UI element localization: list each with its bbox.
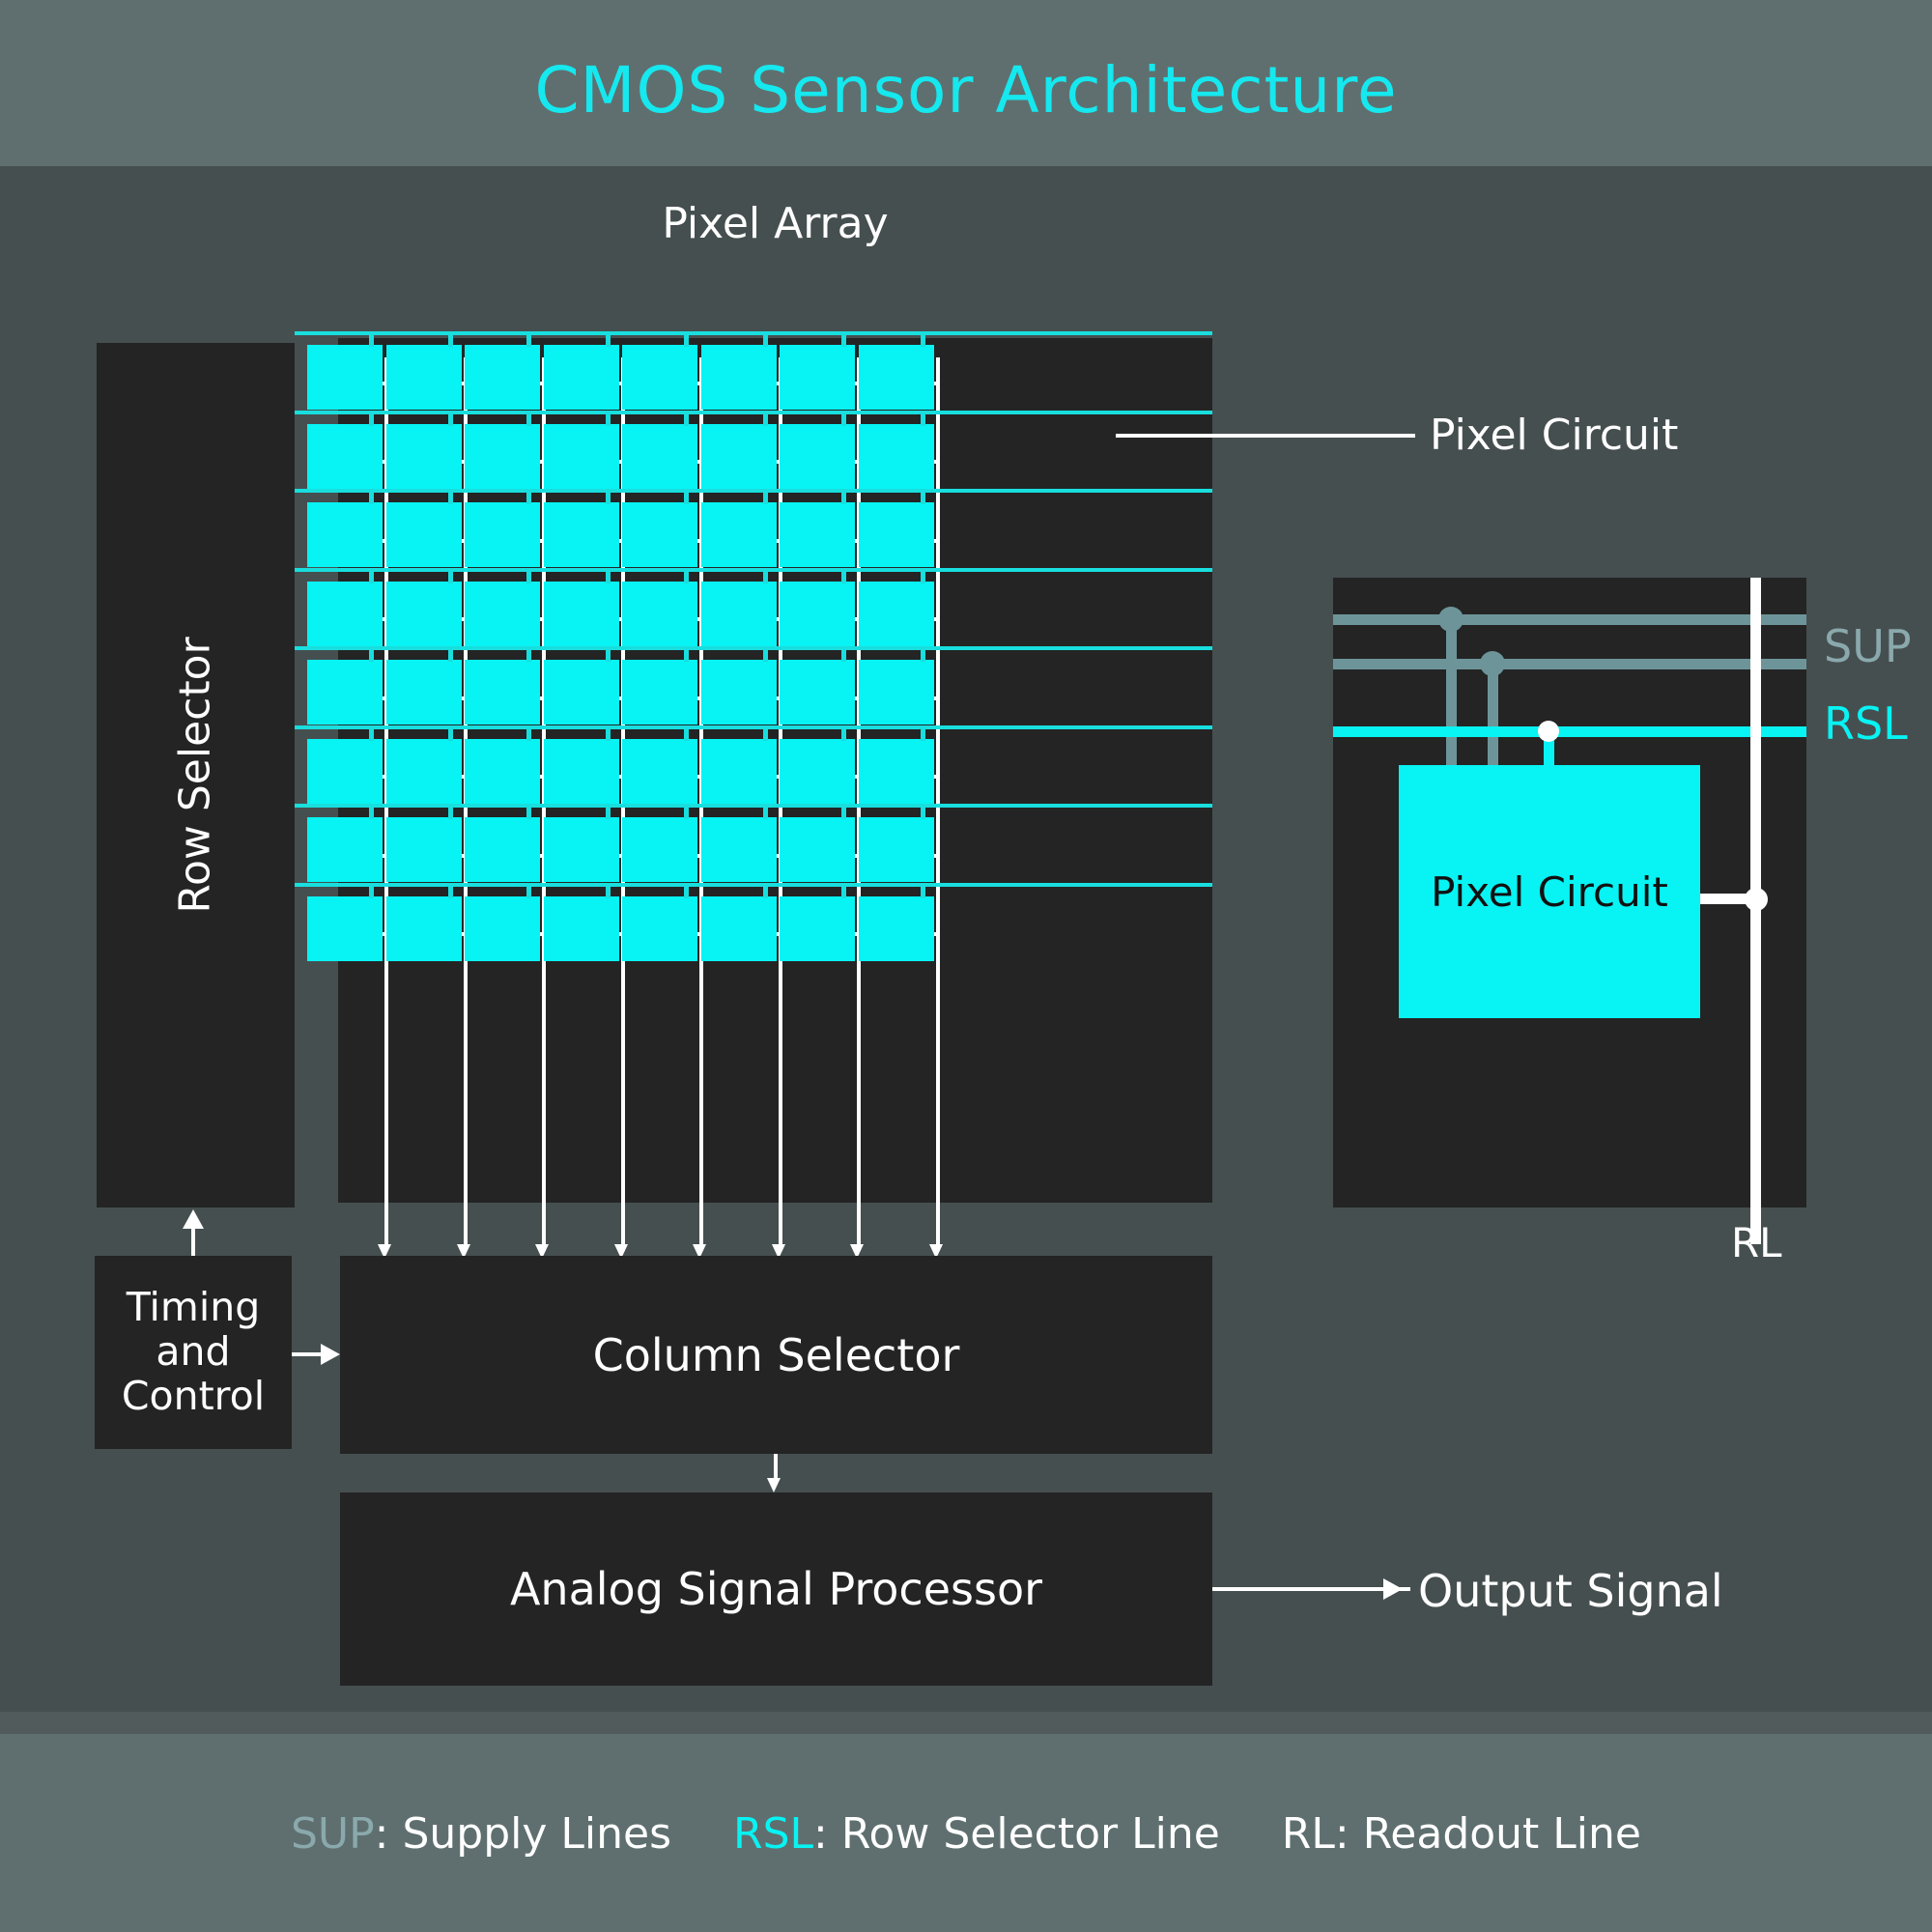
rsl-pixel-stub bbox=[448, 335, 453, 347]
detail-pixel-circuit-block[interactable]: Pixel Circuit bbox=[1399, 765, 1700, 1018]
rsl-pixel-stub bbox=[448, 729, 453, 741]
rsl-row-line bbox=[295, 725, 1212, 729]
sup-junction-dot-2 bbox=[1480, 651, 1505, 676]
legend-description: Row Selector Line bbox=[841, 1809, 1220, 1859]
pixel-cell[interactable] bbox=[622, 660, 697, 724]
pixel-cell[interactable] bbox=[544, 502, 619, 567]
rsl-pixel-stub bbox=[448, 808, 453, 819]
rsl-pixel-stub bbox=[921, 887, 925, 898]
pixel-cell[interactable] bbox=[780, 345, 855, 410]
rsl-pixel-stub bbox=[526, 572, 531, 583]
rsl-pixel-stub bbox=[684, 335, 689, 347]
pixel-cell[interactable] bbox=[386, 739, 462, 804]
legend-item: SUP: Supply Lines bbox=[291, 1809, 671, 1859]
rl-pixel-stub bbox=[934, 932, 940, 936]
pixel-cell[interactable] bbox=[544, 739, 619, 804]
pixel-cell[interactable] bbox=[465, 424, 540, 489]
column-selector-label: Column Selector bbox=[340, 1256, 1212, 1454]
rsl-pixel-stub bbox=[684, 650, 689, 662]
legend-description: Readout Line bbox=[1363, 1809, 1641, 1859]
rsl-row-line bbox=[295, 646, 1212, 650]
rsl-label: RSL bbox=[1824, 697, 1908, 750]
rsl-pixel-stub bbox=[526, 335, 531, 347]
rsl-junction-dot bbox=[1538, 721, 1559, 742]
asp-to-output-line bbox=[1212, 1587, 1410, 1591]
rsl-pixel-stub bbox=[841, 335, 846, 347]
pixel-cell[interactable] bbox=[780, 502, 855, 567]
pixel-cell[interactable] bbox=[386, 660, 462, 724]
rsl-row-line bbox=[295, 331, 1212, 335]
pixel-cell[interactable] bbox=[465, 817, 540, 882]
rsl-pixel-stub bbox=[921, 414, 925, 426]
rl-pixel-stub bbox=[934, 382, 940, 385]
timing-to-colselector-arrowhead bbox=[321, 1344, 340, 1365]
rl-line-detail bbox=[1750, 578, 1761, 1244]
page-title: CMOS Sensor Architecture bbox=[0, 53, 1932, 128]
pixel-cell[interactable] bbox=[307, 739, 383, 804]
pixel-cell[interactable] bbox=[859, 424, 934, 489]
rsl-pixel-stub bbox=[369, 493, 374, 504]
rsl-pixel-stub bbox=[841, 729, 846, 741]
pixel-cell[interactable] bbox=[859, 739, 934, 804]
pixel-cell[interactable] bbox=[307, 502, 383, 567]
pixel-cell[interactable] bbox=[544, 582, 619, 646]
pixel-cell[interactable] bbox=[859, 502, 934, 567]
pixel-cell[interactable] bbox=[622, 502, 697, 567]
pixel-cell[interactable] bbox=[780, 660, 855, 724]
pixel-circuit-callout-line bbox=[1116, 434, 1415, 438]
pixel-cell[interactable] bbox=[465, 660, 540, 724]
rsl-pixel-stub bbox=[921, 650, 925, 662]
rsl-pixel-stub bbox=[369, 808, 374, 819]
pixel-cell[interactable] bbox=[307, 896, 383, 961]
rsl-pixel-stub bbox=[684, 572, 689, 583]
rsl-pixel-stub bbox=[763, 808, 768, 819]
pixel-cell[interactable] bbox=[307, 582, 383, 646]
pixel-cell[interactable] bbox=[701, 502, 777, 567]
rsl-row-line bbox=[295, 883, 1212, 887]
legend-key: RSL bbox=[733, 1809, 813, 1859]
rsl-pixel-stub bbox=[841, 887, 846, 898]
rsl-pixel-stub bbox=[684, 808, 689, 819]
rsl-pixel-stub bbox=[448, 493, 453, 504]
rsl-pixel-stub bbox=[841, 572, 846, 583]
pixel-circuit-callout-label: Pixel Circuit bbox=[1430, 411, 1678, 460]
timing-control-line-2: and bbox=[156, 1330, 230, 1375]
pixel-cell[interactable] bbox=[622, 424, 697, 489]
pixel-array-title: Pixel Array bbox=[338, 199, 1212, 248]
pixel-cell[interactable] bbox=[465, 582, 540, 646]
output-signal-label: Output Signal bbox=[1418, 1565, 1723, 1617]
pixel-cell[interactable] bbox=[544, 345, 619, 410]
rsl-pixel-stub bbox=[606, 729, 611, 741]
pixel-cell[interactable] bbox=[386, 345, 462, 410]
legend-item: RSL: Row Selector Line bbox=[733, 1809, 1220, 1859]
pixel-cell[interactable] bbox=[465, 345, 540, 410]
sup-line-2 bbox=[1333, 659, 1806, 669]
pixel-cell[interactable] bbox=[701, 345, 777, 410]
pixel-cell[interactable] bbox=[386, 582, 462, 646]
rsl-pixel-stub bbox=[841, 650, 846, 662]
rl-pixel-stub bbox=[934, 854, 940, 858]
asp-to-output-arrowhead bbox=[1383, 1578, 1403, 1600]
pixel-cell[interactable] bbox=[701, 660, 777, 724]
rsl-pixel-stub bbox=[841, 493, 846, 504]
legend-item: RL: Readout Line bbox=[1282, 1809, 1641, 1859]
rsl-pixel-stub bbox=[526, 887, 531, 898]
rsl-pixel-stub bbox=[921, 335, 925, 347]
pixel-cell[interactable] bbox=[701, 896, 777, 961]
pixel-cell[interactable] bbox=[859, 345, 934, 410]
timing-control-line-3: Control bbox=[122, 1375, 265, 1419]
pixel-cell[interactable] bbox=[465, 739, 540, 804]
pixel-cell[interactable] bbox=[544, 896, 619, 961]
pixel-cell[interactable] bbox=[780, 424, 855, 489]
pixel-cell[interactable] bbox=[386, 424, 462, 489]
pixel-cell[interactable] bbox=[701, 817, 777, 882]
pixel-cell[interactable] bbox=[307, 660, 383, 724]
rsl-pixel-stub bbox=[841, 808, 846, 819]
rsl-pixel-stub bbox=[606, 808, 611, 819]
rsl-pixel-stub bbox=[448, 572, 453, 583]
rsl-pixel-stub bbox=[763, 493, 768, 504]
pixel-cell[interactable] bbox=[859, 582, 934, 646]
pixel-cell[interactable] bbox=[465, 502, 540, 567]
colselector-to-asp-line bbox=[774, 1454, 778, 1478]
pixel-cell[interactable] bbox=[859, 817, 934, 882]
rsl-row-line bbox=[295, 804, 1212, 808]
rsl-pixel-stub bbox=[606, 650, 611, 662]
pixel-cell[interactable] bbox=[780, 739, 855, 804]
pixel-cell[interactable] bbox=[307, 424, 383, 489]
analog-signal-processor-label: Analog Signal Processor bbox=[340, 1492, 1212, 1686]
rl-junction-dot bbox=[1745, 888, 1768, 911]
timing-to-colselector-line bbox=[292, 1352, 321, 1356]
rl-pixel-stub bbox=[934, 775, 940, 779]
pixel-cell[interactable] bbox=[386, 896, 462, 961]
rsl-pixel-stub bbox=[606, 414, 611, 426]
rsl-pixel-stub bbox=[526, 808, 531, 819]
legend-key: SUP bbox=[291, 1809, 375, 1859]
rsl-pixel-stub bbox=[684, 887, 689, 898]
rsl-pixel-stub bbox=[921, 493, 925, 504]
rl-pixel-stub bbox=[934, 539, 940, 543]
rsl-line-detail bbox=[1333, 726, 1806, 737]
rsl-pixel-stub bbox=[526, 729, 531, 741]
pixel-cell[interactable] bbox=[701, 582, 777, 646]
rsl-pixel-stub bbox=[763, 335, 768, 347]
sup-label: SUP bbox=[1824, 620, 1912, 672]
pixel-cell[interactable] bbox=[622, 896, 697, 961]
timing-control-label-wrap: Timing and Control bbox=[95, 1256, 292, 1449]
rsl-pixel-stub bbox=[369, 335, 374, 347]
rsl-pixel-stub bbox=[526, 493, 531, 504]
rsl-pixel-stub bbox=[526, 414, 531, 426]
rsl-pixel-stub bbox=[606, 572, 611, 583]
rsl-pixel-stub bbox=[606, 335, 611, 347]
rsl-pixel-stub bbox=[526, 650, 531, 662]
rl-pixel-stub bbox=[934, 460, 940, 464]
rsl-pixel-stub bbox=[921, 572, 925, 583]
legend-key: RL bbox=[1282, 1809, 1335, 1859]
pixel-cell[interactable] bbox=[622, 345, 697, 410]
legend: SUP: Supply LinesRSL: Row Selector LineR… bbox=[0, 1809, 1932, 1859]
rsl-pixel-stub bbox=[606, 887, 611, 898]
pixel-cell[interactable] bbox=[780, 817, 855, 882]
rsl-pixel-stub bbox=[369, 729, 374, 741]
sup-junction-dot-1 bbox=[1438, 607, 1463, 632]
rsl-pixel-stub bbox=[606, 493, 611, 504]
legend-separator: : bbox=[1335, 1809, 1363, 1859]
row-selector-label: Row Selector bbox=[171, 637, 220, 913]
rsl-pixel-stub bbox=[921, 729, 925, 741]
rl-pixel-stub bbox=[934, 617, 940, 621]
sup-line-1 bbox=[1333, 614, 1806, 625]
pixel-cell[interactable] bbox=[465, 896, 540, 961]
pixel-cell[interactable] bbox=[780, 582, 855, 646]
colselector-to-asp-arrowhead bbox=[767, 1478, 781, 1492]
pixel-cell[interactable] bbox=[780, 896, 855, 961]
pixel-cell[interactable] bbox=[544, 817, 619, 882]
pixel-cell[interactable] bbox=[859, 660, 934, 724]
pixel-cell[interactable] bbox=[307, 345, 383, 410]
pixel-cell[interactable] bbox=[544, 660, 619, 724]
rsl-pixel-stub bbox=[448, 887, 453, 898]
rsl-pixel-stub bbox=[841, 414, 846, 426]
pixel-cell[interactable] bbox=[307, 817, 383, 882]
timing-to-rowselector-line bbox=[191, 1229, 195, 1256]
rsl-row-line bbox=[295, 489, 1212, 493]
pixel-cell[interactable] bbox=[701, 739, 777, 804]
rsl-pixel-stub bbox=[684, 414, 689, 426]
pixel-cell[interactable] bbox=[859, 896, 934, 961]
pixel-cell[interactable] bbox=[386, 502, 462, 567]
rsl-row-line bbox=[295, 568, 1212, 572]
legend-separator: : bbox=[375, 1809, 403, 1859]
rsl-pixel-stub bbox=[369, 572, 374, 583]
timing-control-line-1: Timing bbox=[127, 1286, 261, 1330]
rsl-pixel-stub bbox=[684, 729, 689, 741]
rsl-pixel-stub bbox=[369, 887, 374, 898]
pixel-cell[interactable] bbox=[622, 817, 697, 882]
rsl-pixel-stub bbox=[763, 729, 768, 741]
footer-divider-strip bbox=[0, 1712, 1932, 1734]
timing-to-rowselector-arrowhead bbox=[183, 1209, 204, 1229]
rsl-row-line bbox=[295, 411, 1212, 414]
rl-label: RL bbox=[1731, 1219, 1782, 1266]
legend-separator: : bbox=[813, 1809, 841, 1859]
sup-stub-2 bbox=[1488, 664, 1498, 769]
pixel-cell[interactable] bbox=[386, 817, 462, 882]
rsl-pixel-stub bbox=[763, 650, 768, 662]
rsl-pixel-stub bbox=[684, 493, 689, 504]
pixel-cell[interactable] bbox=[622, 739, 697, 804]
pixel-cell[interactable] bbox=[544, 424, 619, 489]
pixel-cell[interactable] bbox=[701, 424, 777, 489]
legend-description: Supply Lines bbox=[402, 1809, 671, 1859]
rl-pixel-stub bbox=[934, 696, 940, 700]
rsl-pixel-stub bbox=[369, 650, 374, 662]
rsl-pixel-stub bbox=[763, 414, 768, 426]
rsl-pixel-stub bbox=[763, 572, 768, 583]
rsl-pixel-stub bbox=[921, 808, 925, 819]
sup-stub-1 bbox=[1446, 619, 1457, 769]
row-selector-label-wrap: Row Selector bbox=[97, 343, 295, 1207]
rsl-pixel-stub bbox=[448, 650, 453, 662]
rsl-pixel-stub bbox=[763, 887, 768, 898]
rsl-pixel-stub bbox=[448, 414, 453, 426]
rsl-pixel-stub bbox=[369, 414, 374, 426]
pixel-cell[interactable] bbox=[622, 582, 697, 646]
